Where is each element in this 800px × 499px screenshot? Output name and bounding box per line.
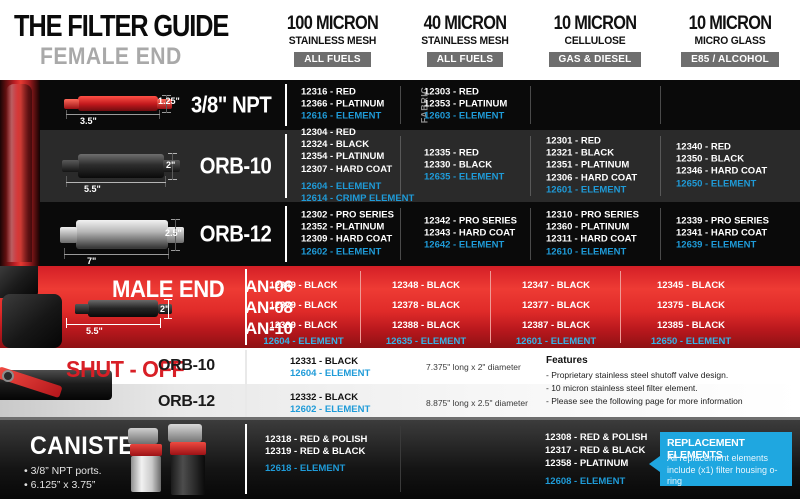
column-header-1: 100 MICRON STAINLESS MESH ALL FUELS	[265, 14, 400, 67]
feature-item: - Proprietary stainless steel shutoff va…	[546, 370, 728, 380]
part-cell-c3[interactable]	[532, 80, 660, 130]
column-media-label: MICRO GLASS	[664, 34, 796, 48]
part-number: 12352 - PLATINUM	[301, 222, 394, 234]
table-row-npt[interactable]: 3.5" 1.25" 3/8" NPT 12316 - RED 12366 - …	[40, 80, 800, 130]
part-list: 12303 - RED 12353 - PLATINUM 12603 - ELE…	[424, 87, 507, 124]
part-number: 12389 - BLACK	[247, 320, 360, 331]
male-end-title: MALE END	[112, 276, 224, 304]
part-number-element: 12603 - ELEMENT	[424, 111, 507, 123]
part-list: 12316 - RED 12366 - PLATINUM 12616 - ELE…	[301, 87, 384, 124]
part-number-element: 12608 - ELEMENT	[545, 476, 625, 489]
table-row-orb12[interactable]: 7" 2.5" ORB-12 12302 - PRO SERIES 12352 …	[40, 202, 800, 266]
filter-body-icon	[76, 220, 168, 249]
part-number: 12304 - RED	[301, 127, 414, 139]
filter-body-icon	[78, 154, 164, 178]
part-number: 12341 - HARD COAT	[676, 228, 769, 240]
column-micron-label: 10 MICRON	[539, 14, 651, 33]
part-list: 12301 - RED 12321 - BLACK 12351 - PLATIN…	[546, 135, 637, 196]
part-cell-c3[interactable]: 12310 - PRO SERIES 12360 - PLATINUM 1231…	[532, 202, 660, 266]
part-list: 12310 - PRO SERIES 12360 - PLATINUM 1231…	[546, 210, 639, 259]
part-number: 12358 - PLATINUM	[545, 458, 628, 471]
part-number: 12385 - BLACK	[622, 320, 760, 331]
part-number: 12308 - RED & POLISH	[545, 432, 647, 445]
female-end-table: 3.5" 1.25" 3/8" NPT 12316 - RED 12366 - …	[0, 80, 800, 266]
shut-off-dimension: 7.375" long x 2" diameter	[426, 362, 521, 372]
filter-end-cap-icon	[64, 99, 79, 109]
part-number: 12321 - BLACK	[546, 148, 637, 160]
part-number-element: 12616 - ELEMENT	[301, 111, 384, 123]
part-number-element: 12650 - ELEMENT	[676, 178, 767, 190]
part-number: 12387 - BLACK	[492, 320, 620, 331]
shut-off-dimension: 8.875" long x 2.5" diameter	[426, 398, 528, 408]
part-number: 12388 - BLACK	[362, 320, 490, 331]
part-number: 12324 - BLACK	[301, 139, 414, 151]
part-number: 12340 - RED	[676, 142, 767, 154]
part-number: 12302 - PRO SERIES	[301, 210, 394, 222]
column-header-2: 40 MICRON STAINLESS MESH ALL FUELS	[400, 14, 530, 67]
features-title: Features	[546, 355, 588, 366]
part-number: 12307 - HARD COAT	[301, 164, 414, 176]
part-number: 12316 - RED	[301, 87, 384, 99]
column-header-3: 10 MICRON CELLULOSE GAS & DIESEL	[530, 14, 660, 67]
column-header-4: 10 MICRON MICRO GLASS E85 / ALCOHOL	[660, 14, 800, 67]
column-fuel-badge: GAS & DIESEL	[549, 52, 642, 67]
callout-body: All replacement elements include (x1) fi…	[667, 453, 787, 488]
part-number: 12335 - RED	[424, 148, 504, 160]
feature-item: - 10 micron stainless steel filter eleme…	[546, 383, 698, 393]
part-number: 12377 - BLACK	[492, 300, 620, 311]
column-media-label: STAINLESS MESH	[269, 34, 396, 48]
shut-off-section: SHUT - OFF ORB-10 ORB-12 12331 - BLACK 1…	[0, 348, 800, 420]
part-number-element: 12635 - ELEMENT	[424, 172, 504, 184]
part-number: 12343 - HARD COAT	[424, 228, 517, 240]
part-number: 12317 - RED & BLACK	[545, 445, 645, 458]
part-number: 12342 - PRO SERIES	[424, 216, 517, 228]
part-number: 12350 - BLACK	[676, 154, 767, 166]
dimension-height: 2"	[166, 160, 175, 170]
part-number-element: 12602 - ELEMENT	[290, 404, 370, 415]
part-number: 12375 - BLACK	[622, 300, 760, 311]
filter-guide-page: THE FILTER GUIDE FEMALE END 100 MICRON S…	[0, 0, 800, 499]
page-header: THE FILTER GUIDE FEMALE END 100 MICRON S…	[0, 0, 800, 80]
part-number-element: 12601 - ELEMENT	[546, 184, 637, 196]
part-number-element: 12601 - ELEMENT	[492, 336, 620, 347]
part-cell-c1[interactable]: 12304 - RED 12324 - BLACK 12354 - PLATIN…	[287, 130, 400, 202]
column-media-label: STAINLESS MESH	[404, 34, 526, 48]
part-number: 12354 - PLATINUM	[301, 151, 414, 163]
part-number: 12379 - BLACK	[247, 300, 360, 311]
part-list: 12302 - PRO SERIES 12352 - PLATINUM 1230…	[301, 210, 394, 259]
canister-bullet: • 6.125” x 3.75”	[24, 479, 95, 491]
filter-body-icon	[78, 96, 158, 111]
column-fuel-badge: ALL FUELS	[427, 52, 504, 67]
part-number: 12345 - BLACK	[622, 280, 760, 291]
part-number: 12346 - HARD COAT	[676, 166, 767, 178]
part-number: 12309 - HARD COAT	[301, 234, 394, 246]
part-number: 12349 - BLACK	[247, 280, 360, 291]
part-list: 12339 - PRO SERIES 12341 - HARD COAT 126…	[676, 216, 769, 253]
part-number-element: 12610 - ELEMENT	[546, 246, 639, 258]
column-micron-label: 10 MICRON	[670, 14, 790, 33]
part-number: 12339 - PRO SERIES	[676, 216, 769, 228]
part-number: 12331 - BLACK	[290, 356, 358, 367]
part-list: 12335 - RED 12330 - BLACK 12635 - ELEMEN…	[424, 148, 504, 185]
dimension-length: 3.5"	[80, 116, 97, 126]
product-cell: 3.5" 1.25" 3/8" NPT	[40, 80, 285, 130]
replacement-elements-callout: REPLACEMENT ELEMENTS All replacement ele…	[660, 432, 792, 486]
shut-off-size-orb12: ORB-12	[158, 393, 215, 411]
filter-end-cap-icon	[62, 160, 79, 172]
part-cell-c4[interactable]: 12340 - RED 12350 - BLACK 12346 - HARD C…	[662, 130, 800, 202]
dimension-length: 5.5"	[84, 184, 101, 194]
table-row-orb10[interactable]: 5.5" 2" ORB-10 12304 - RED 12324 - BLACK…	[40, 130, 800, 202]
part-cell-c2[interactable]: 12342 - PRO SERIES 12343 - HARD COAT 126…	[402, 202, 530, 266]
part-number-element: 12639 - ELEMENT	[676, 240, 769, 252]
part-cell-c2[interactable]: FABRIC 12303 - RED 12353 - PLATINUM 1260…	[402, 80, 530, 130]
product-cell: 7" 2.5" ORB-12	[40, 202, 285, 266]
part-number: 12353 - PLATINUM	[424, 99, 507, 111]
dimension-length: 7"	[87, 256, 96, 266]
canister-bullet: • 3/8” NPT ports.	[24, 465, 102, 477]
dimension-length: 5.5"	[86, 326, 103, 336]
part-number: 12310 - PRO SERIES	[546, 210, 639, 222]
dimension-height: 1.25"	[158, 96, 180, 106]
part-number: 12311 - HARD COAT	[546, 234, 639, 246]
product-name: ORB-10	[199, 153, 271, 180]
part-number-element: 12604 - ELEMENT	[301, 181, 414, 193]
feature-item: - Please see the following page for more…	[546, 396, 743, 406]
shut-off-size-orb10: ORB-10	[158, 357, 215, 375]
part-number: 12330 - BLACK	[424, 160, 504, 172]
part-cell-c4[interactable]: 12339 - PRO SERIES 12341 - HARD COAT 126…	[662, 202, 800, 266]
part-number-element: 12602 - ELEMENT	[301, 246, 394, 258]
filter-end-cap-icon	[60, 227, 77, 243]
part-number-element: 12604 - ELEMENT	[247, 336, 360, 347]
part-number: 12360 - PLATINUM	[546, 222, 639, 234]
part-list: 12340 - RED 12350 - BLACK 12346 - HARD C…	[676, 142, 767, 191]
part-number: 12303 - RED	[424, 87, 507, 99]
product-name: 3/8" NPT	[191, 92, 271, 119]
column-fuel-badge: E85 / ALCOHOL	[681, 52, 779, 67]
part-cell-c2[interactable]: 12335 - RED 12330 - BLACK 12635 - ELEMEN…	[402, 130, 530, 202]
part-number: 12351 - PLATINUM	[546, 160, 637, 172]
part-number-element: 12618 - ELEMENT	[265, 463, 345, 476]
part-number: 12332 - BLACK	[290, 392, 358, 403]
part-number: 12378 - BLACK	[362, 300, 490, 311]
column-media-label: CELLULOSE	[534, 34, 656, 48]
part-number: 12347 - BLACK	[492, 280, 620, 291]
section-subtitle-female-end: FEMALE END	[40, 43, 182, 71]
part-number: 12366 - PLATINUM	[301, 99, 384, 111]
part-cell-c1[interactable]: 12302 - PRO SERIES 12352 - PLATINUM 1230…	[287, 202, 400, 266]
male-end-section: 5.5" 2" MALE END AN-06 AN-08 AN-10 12349…	[0, 266, 800, 348]
page-title: THE FILTER GUIDE	[14, 8, 228, 44]
product-cell: 5.5" 2" ORB-10	[40, 130, 285, 202]
part-number-element: 12642 - ELEMENT	[424, 240, 517, 252]
dimension-height: 2"	[160, 304, 169, 314]
part-number-element: 12635 - ELEMENT	[362, 336, 490, 347]
part-number: 12348 - BLACK	[362, 280, 490, 291]
part-cell-c1[interactable]: 12316 - RED 12366 - PLATINUM 12616 - ELE…	[287, 80, 400, 130]
dimension-height: 2.5"	[165, 228, 182, 238]
male-filter-end-cap-icon	[75, 304, 89, 314]
part-number: 12301 - RED	[546, 135, 637, 147]
product-name: ORB-12	[199, 221, 271, 248]
part-number: 12319 - RED & BLACK	[265, 446, 365, 459]
fabric-label-wrap: FABRIC	[402, 80, 420, 130]
part-number-element: 12604 - ELEMENT	[290, 368, 370, 379]
part-number: 12318 - RED & POLISH	[265, 434, 367, 447]
part-number-element: 12650 - ELEMENT	[622, 336, 760, 347]
female-end-product-photo	[0, 80, 40, 266]
part-list: 12342 - PRO SERIES 12343 - HARD COAT 126…	[424, 216, 517, 253]
part-number: 12306 - HARD COAT	[546, 172, 637, 184]
part-list: 12304 - RED 12324 - BLACK 12354 - PLATIN…	[301, 127, 414, 205]
column-micron-label: 100 MICRON	[274, 14, 390, 33]
column-fuel-badge: ALL FUELS	[294, 52, 371, 67]
column-micron-label: 40 MICRON	[409, 14, 521, 33]
part-cell-c4[interactable]	[662, 80, 800, 130]
part-cell-c3[interactable]: 12301 - RED 12321 - BLACK 12351 - PLATIN…	[532, 130, 660, 202]
